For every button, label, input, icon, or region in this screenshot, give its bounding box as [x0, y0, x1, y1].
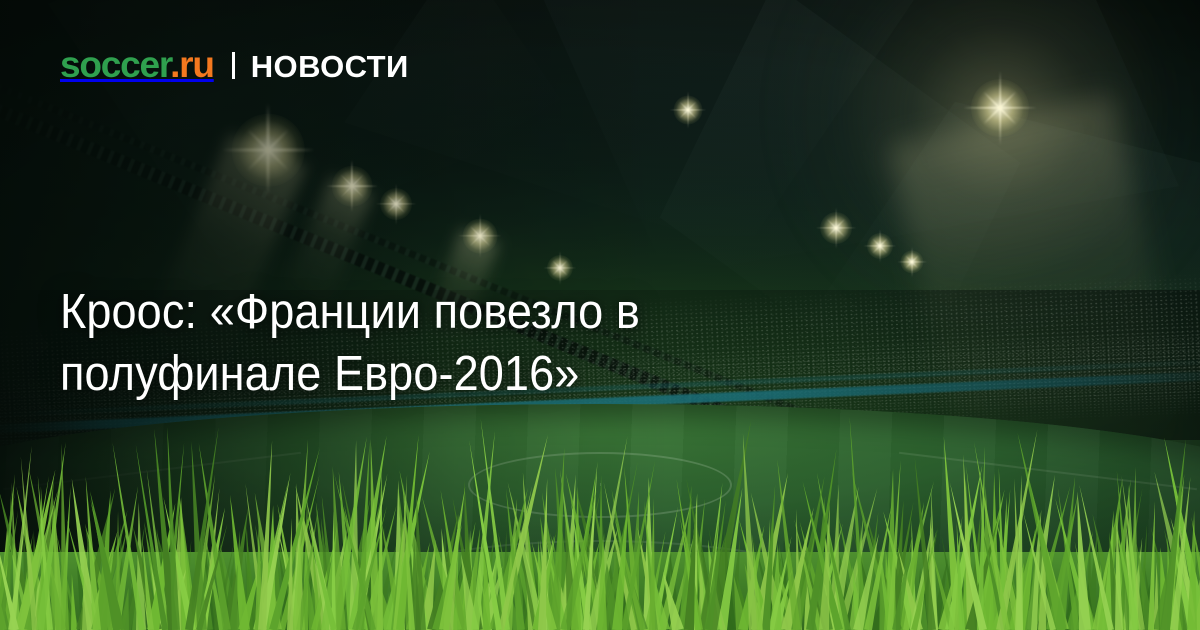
news-share-card: soccer.ru НОВОСТИ Кроос: «Франции повезл… [0, 0, 1200, 630]
logo-word-tld: .ru [170, 44, 214, 85]
site-logo[interactable]: soccer.ru [60, 46, 214, 83]
logo-word-soccer: soccer [60, 44, 170, 85]
grass-blade [597, 533, 608, 630]
foreground-grass [0, 370, 1200, 630]
article-headline: Кроос: «Франции повезло в полуфинале Евр… [60, 281, 870, 405]
section-label-novosti: НОВОСТИ [251, 51, 409, 82]
headline-line-1: Кроос: «Франции повезло в [60, 281, 870, 343]
header-separator-icon [232, 52, 235, 79]
headline-line-2: полуфинале Евро-2016» [60, 343, 870, 405]
site-header: soccer.ru НОВОСТИ [60, 46, 409, 83]
